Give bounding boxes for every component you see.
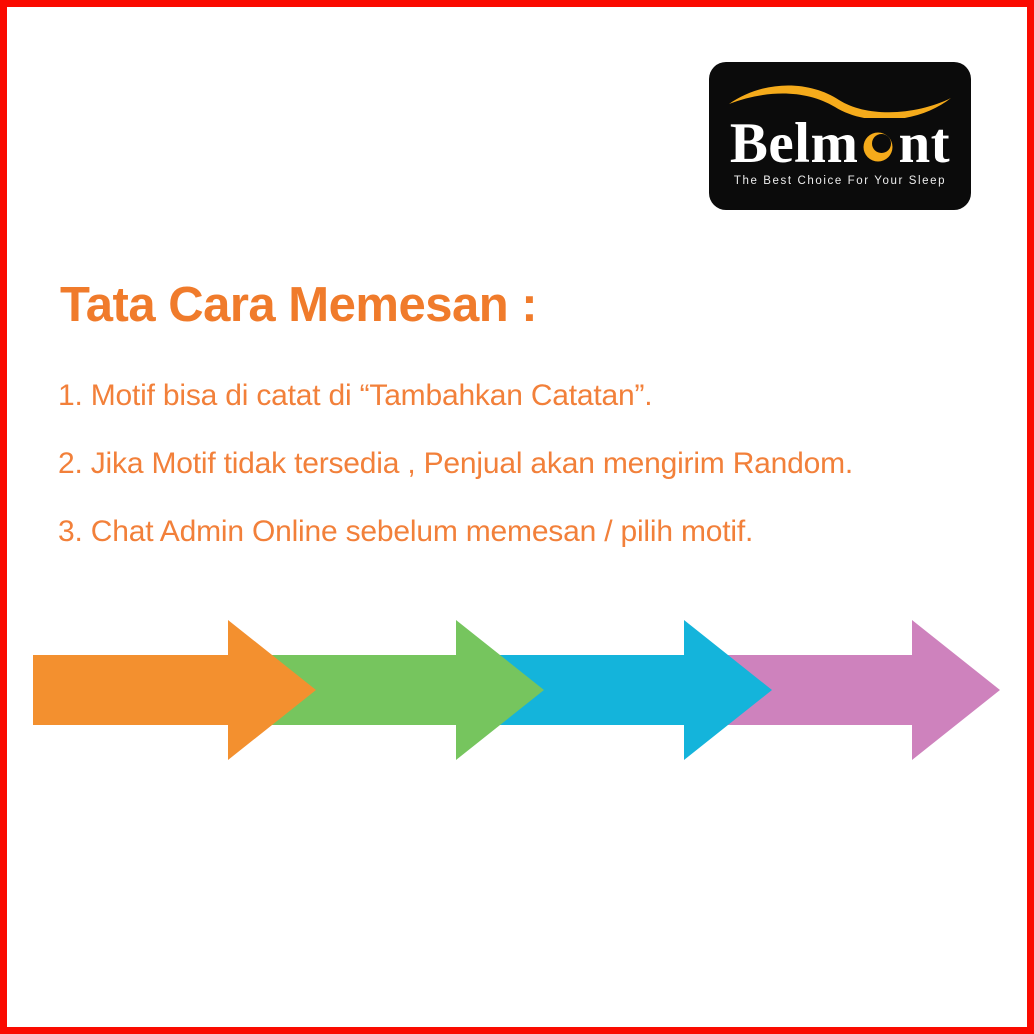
- moon-o-icon: [858, 127, 898, 167]
- instructions-list: 1. Motif bisa di catat di “Tambahkan Cat…: [58, 362, 998, 566]
- instruction-item-1: 1. Motif bisa di catat di “Tambahkan Cat…: [58, 362, 998, 430]
- logo-brand-tail: nt: [898, 112, 950, 175]
- logo-wordmark: Belm nt: [709, 112, 971, 176]
- belmont-logo: Belm nt The Best Choice For Your Sleep: [709, 62, 971, 210]
- flow-arrow-1-shape: [33, 620, 316, 760]
- logo-brand-text: Belm: [730, 112, 859, 175]
- process-flow-diagram: View Barang Check Out Chat Admin Pilih M…: [0, 600, 1034, 790]
- poster-canvas: Belm nt The Best Choice For Your Sleep T…: [0, 0, 1034, 1034]
- page-title: Tata Cara Memesan :: [60, 277, 537, 333]
- logo-tagline: The Best Choice For Your Sleep: [709, 175, 971, 187]
- instruction-item-2: 2. Jika Motif tidak tersedia , Penjual a…: [58, 430, 998, 498]
- instruction-item-3: 3. Chat Admin Online sebelum memesan / p…: [58, 498, 998, 566]
